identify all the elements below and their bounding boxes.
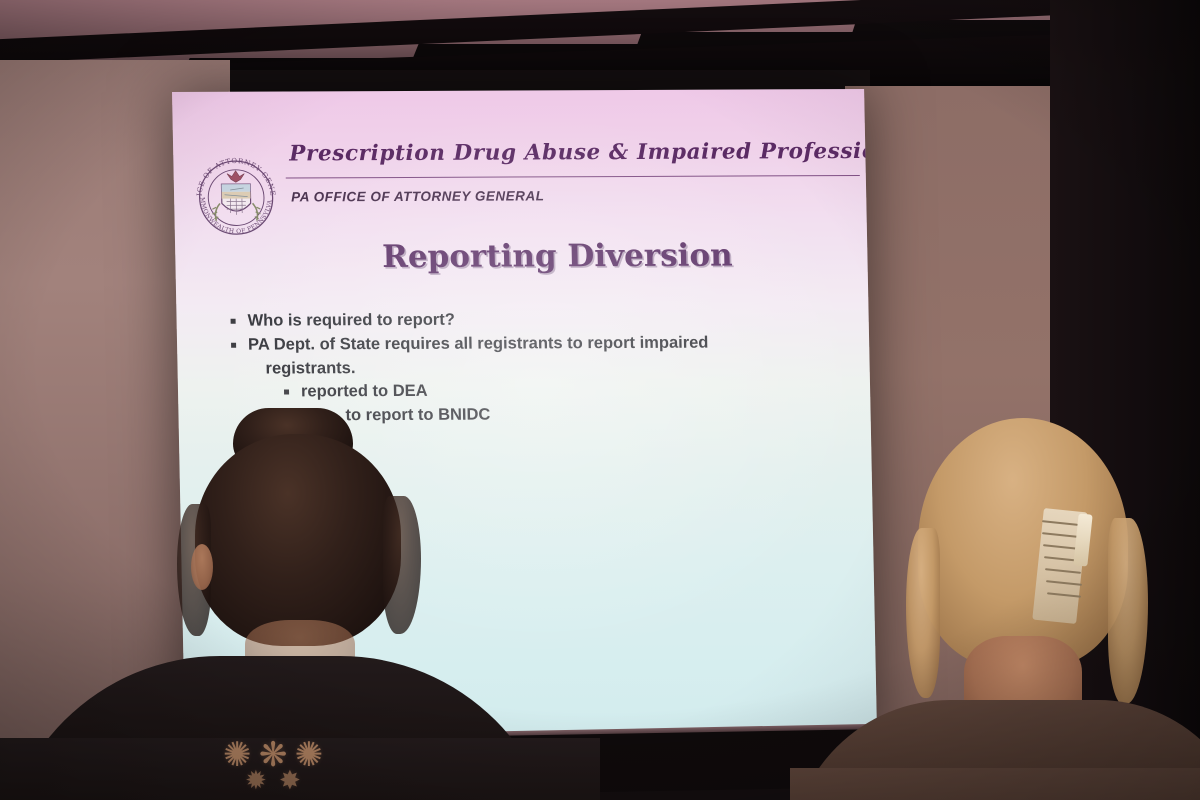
header-divider xyxy=(286,175,860,179)
hair xyxy=(918,418,1128,668)
list-item: PA Dept. of State requires all registran… xyxy=(231,331,832,356)
bullet-text: Who is required to report? xyxy=(247,309,455,333)
hair-strand xyxy=(1108,518,1148,704)
list-item: Who is required to report? xyxy=(230,307,831,332)
hair-strand xyxy=(383,496,421,634)
slide-title: Reporting Diversion xyxy=(175,237,868,276)
slide-header-title: Prescription Drug Abuse & Impaired Profe… xyxy=(289,139,856,166)
bullet-marker-icon xyxy=(231,319,236,324)
room-scene: OFFICE OF ATTORNEY GENERAL COMMONWEALTH … xyxy=(0,0,1200,800)
bullet-marker-icon xyxy=(231,342,236,347)
hair xyxy=(195,434,401,646)
bullet-text: reported to DEA xyxy=(301,380,428,403)
bullet-text: PA Dept. of State requires all registran… xyxy=(248,331,709,356)
pa-attorney-general-seal-icon: OFFICE OF ATTORNEY GENERAL COMMONWEALTH … xyxy=(187,148,285,244)
list-item: reported to DEA xyxy=(232,378,833,403)
shirt-print-motif: ✹ ✸ xyxy=(245,768,303,794)
shirt-lower xyxy=(790,768,1200,800)
hair-strand xyxy=(906,528,940,698)
ear xyxy=(191,544,213,590)
person-right xyxy=(860,418,1200,800)
person-left: ✺ ❋ ✺ ✹ ✸ xyxy=(95,408,565,800)
list-item: registrants. xyxy=(231,355,832,380)
bullet-marker-icon xyxy=(284,390,289,395)
bullet-text: registrants. xyxy=(265,357,355,380)
slide-header-subtitle: PA OFFICE OF ATTORNEY GENERAL xyxy=(291,188,545,204)
